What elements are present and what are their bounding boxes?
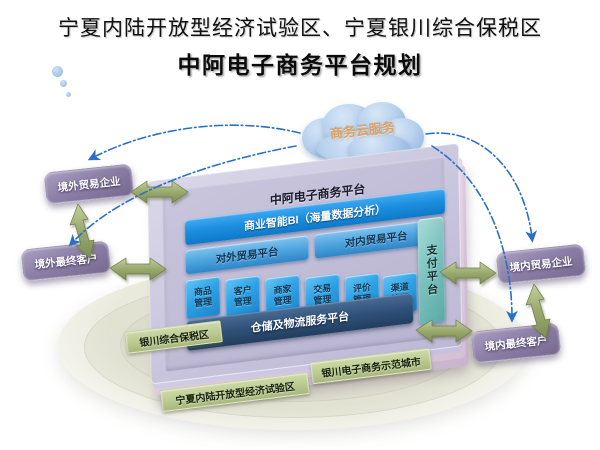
cloud-trail-dot-icon bbox=[60, 80, 67, 87]
module-box-product-management[interactable]: 商品 管理 bbox=[186, 276, 220, 318]
dashed-link-cloud-to-overseas-enterprise bbox=[92, 125, 300, 158]
entity-box-domestic-trade-enterprise[interactable]: 境内贸易企业 bbox=[496, 243, 587, 284]
entity-box-overseas-end-customer[interactable]: 境外最终客户 bbox=[21, 240, 112, 281]
page-title: 中阿电子商务平台规划 bbox=[0, 48, 600, 82]
payment-platform-label: 支付平台 bbox=[418, 217, 446, 325]
cloud-trail-dot-icon bbox=[66, 92, 71, 97]
payment-platform-column[interactable]: 支付平台 bbox=[418, 217, 446, 325]
slab-top-surface: 中阿电子商务平台 商业智能BI（海量数据分析） 对外贸易平台 对内贸易平台 商品… bbox=[147, 143, 462, 384]
diagram-canvas: 宁夏内陆开放型经济试验区、宁夏银川综合保税区 中阿电子商务平台规划 商务云服务 … bbox=[0, 0, 600, 450]
entity-box-overseas-trade-enterprise[interactable]: 境外贸易企业 bbox=[44, 163, 135, 204]
cloud-trail-dot-icon bbox=[52, 66, 63, 77]
subtitle-region-names: 宁夏内陆开放型经济试验区、宁夏银川综合保税区 bbox=[0, 14, 600, 44]
title-block: 宁夏内陆开放型经济试验区、宁夏银川综合保税区 中阿电子商务平台规划 bbox=[0, 14, 600, 82]
